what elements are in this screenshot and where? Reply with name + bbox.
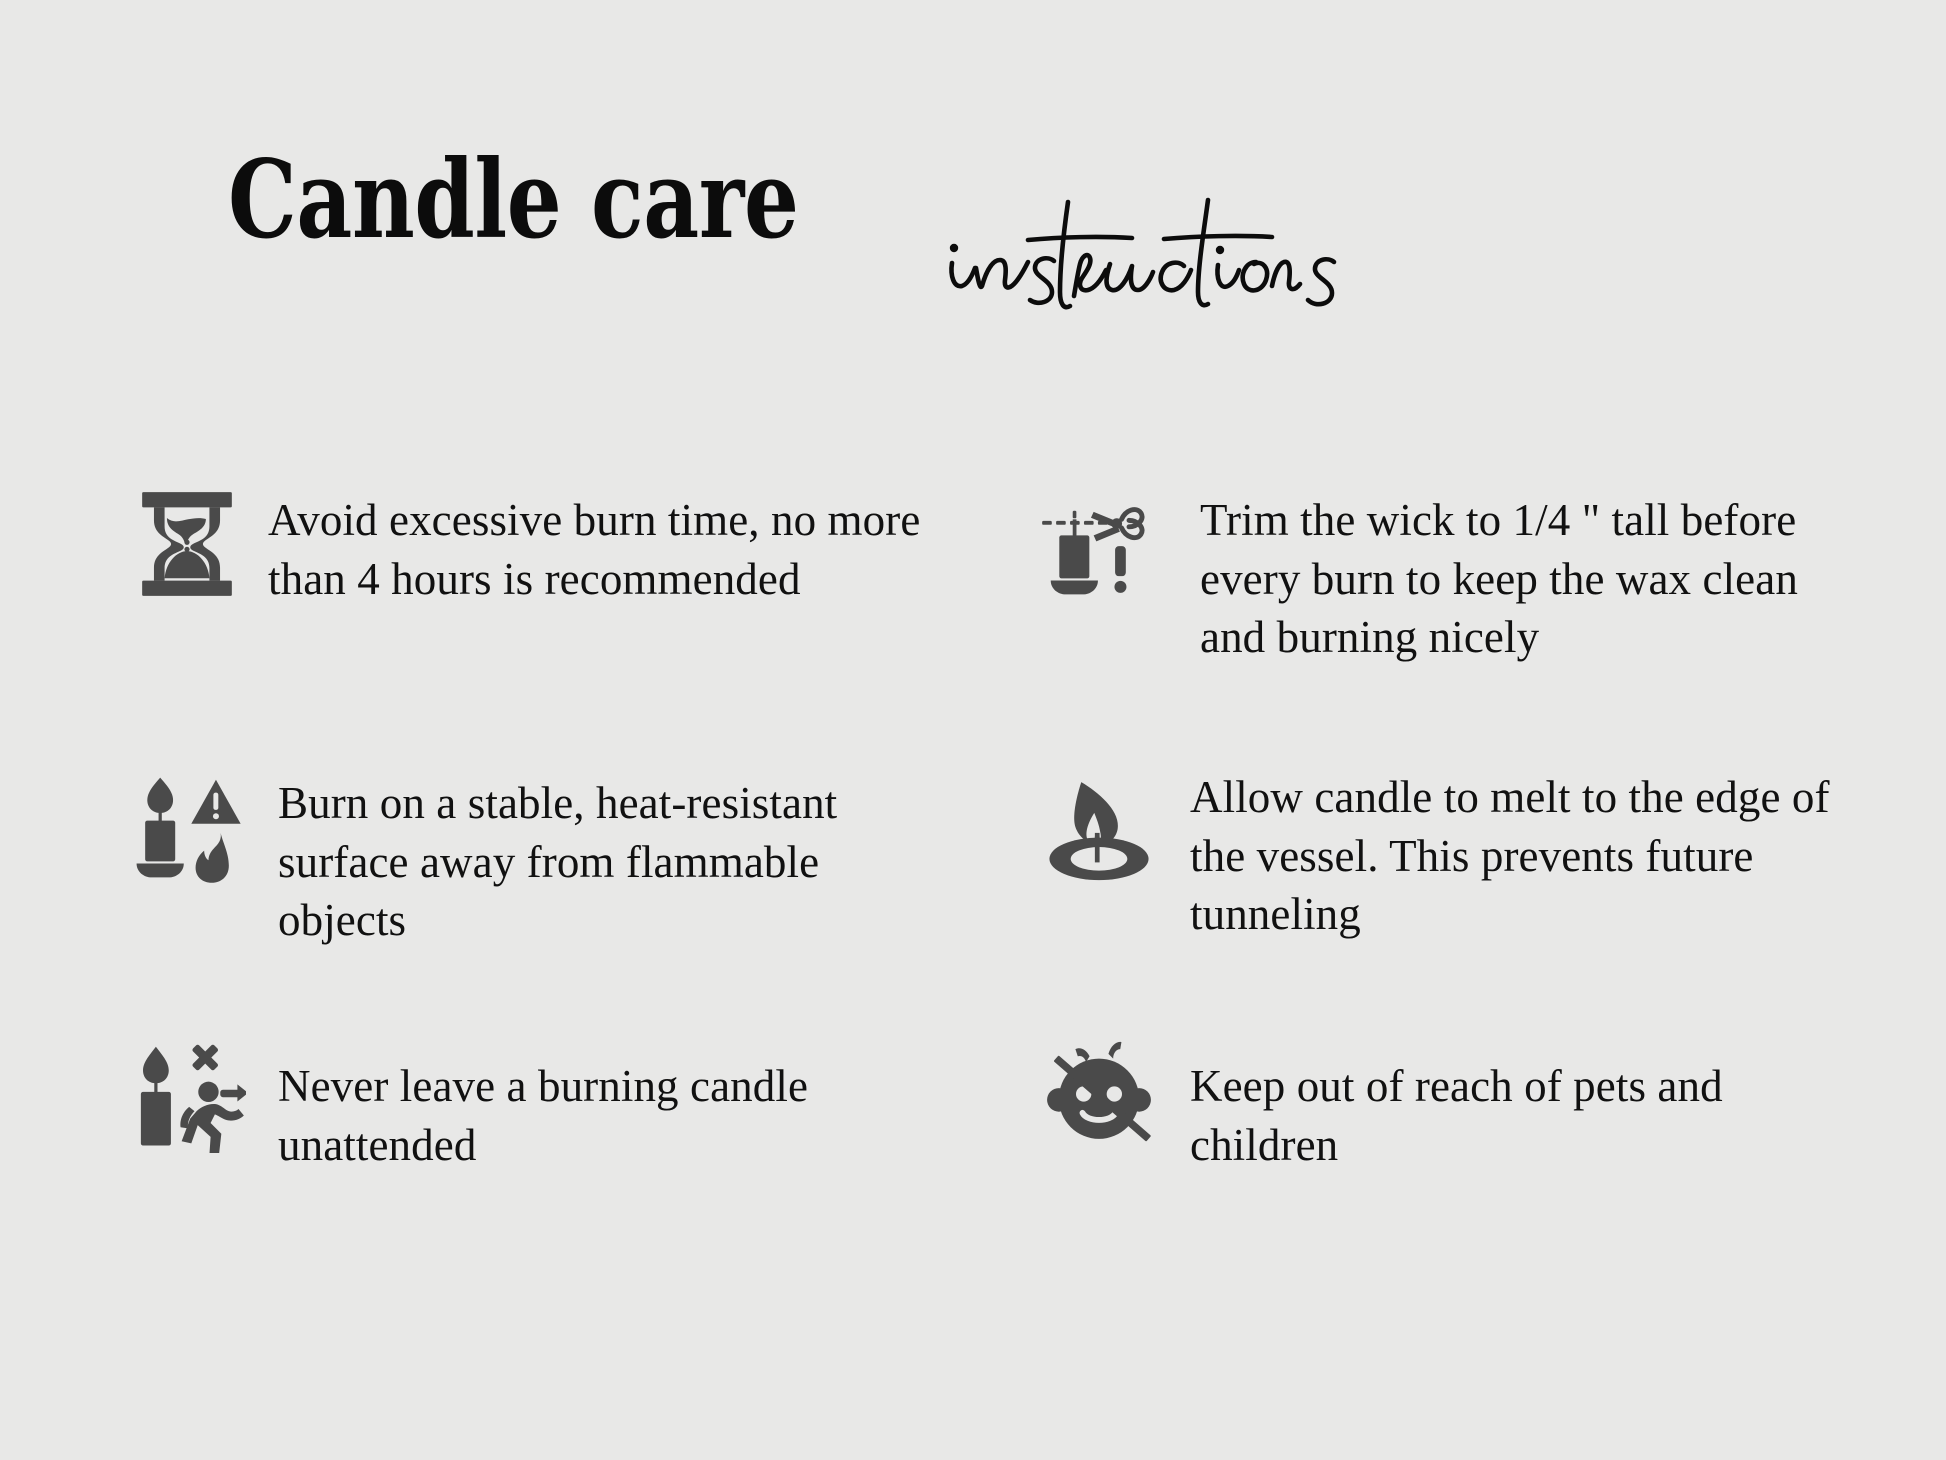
care-item-full-melt-pool: Allow candle to melt to the edge of the … xyxy=(1040,768,1840,944)
candle-melt-vessel-icon xyxy=(1040,768,1190,898)
care-item-burn-time: Avoid excessive burn time, no more than … xyxy=(128,485,928,615)
scissors-trim-wick-icon xyxy=(1040,485,1200,615)
care-item-never-unattended: Never leave a burning candle unattended xyxy=(128,1035,928,1174)
care-instructions-grid: Avoid excessive burn time, no more than … xyxy=(0,0,1946,1460)
care-item-stable-surface: Burn on a stable, heat-resistant surface… xyxy=(128,768,928,950)
care-item-text: Avoid excessive burn time, no more than … xyxy=(268,485,928,608)
care-item-trim-wick: Trim the wick to 1/4 " tall before every… xyxy=(1040,485,1840,667)
care-item-keep-away-children: Keep out of reach of pets and children xyxy=(1040,1035,1840,1174)
no-baby-icon xyxy=(1040,1035,1190,1165)
care-item-text: Never leave a burning candle unattended xyxy=(278,1035,928,1174)
care-item-text: Keep out of reach of pets and children xyxy=(1190,1035,1840,1174)
hourglass-icon xyxy=(128,485,268,615)
candle-leaving-person-icon xyxy=(128,1035,278,1165)
care-item-text: Burn on a stable, heat-resistant surface… xyxy=(278,768,928,950)
care-item-text: Allow candle to melt to the edge of the … xyxy=(1190,768,1840,944)
candle-warning-flame-icon xyxy=(128,768,278,898)
care-item-text: Trim the wick to 1/4 " tall before every… xyxy=(1200,485,1840,667)
